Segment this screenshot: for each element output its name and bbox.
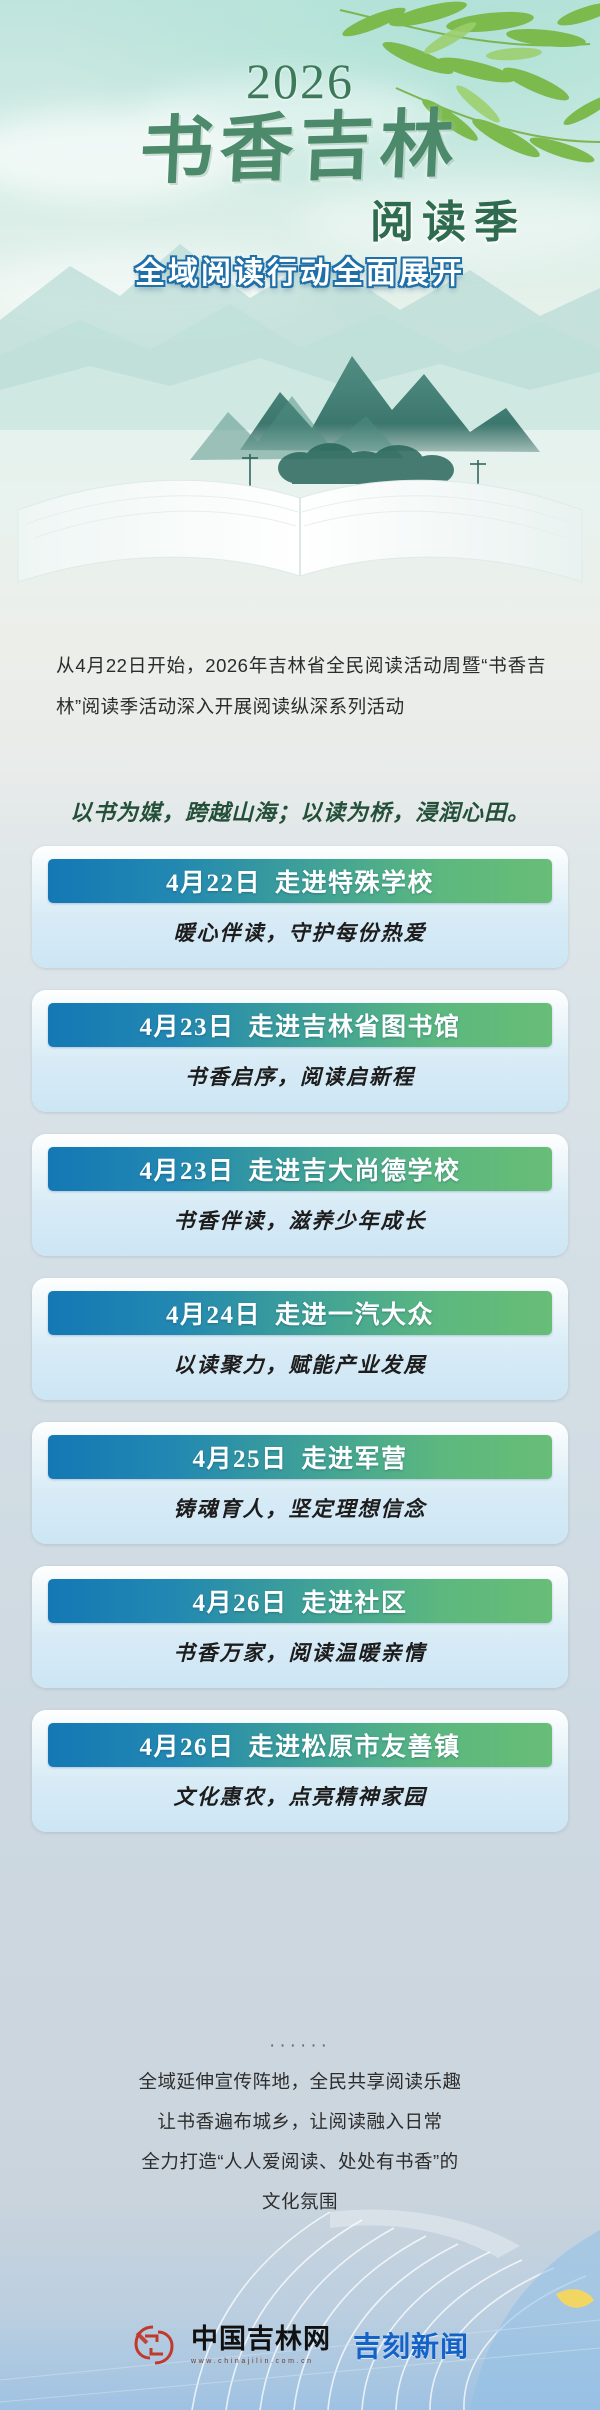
- poster-page: 2026 书香吉林 阅读季 全域阅读行动全面展开: [0, 0, 600, 2410]
- event-card-subtitle: 文化惠农，点亮精神家园: [48, 1781, 552, 1811]
- event-card-header: 4月23日走进吉林省图书馆: [48, 1003, 552, 1047]
- jike-news-wordmark: 吉刻新闻: [353, 2325, 469, 2365]
- event-card-subtitle: 暖心伴读，守护每份热爱: [48, 917, 552, 947]
- event-card-header: 4月24日走进一汽大众: [48, 1291, 552, 1335]
- event-card-title: 4月25日走进军营: [192, 1439, 407, 1475]
- event-card[interactable]: 4月24日走进一汽大众 以读聚力，赋能产业发展: [32, 1278, 568, 1400]
- open-book-illustration: [0, 300, 600, 600]
- event-card-header: 4月26日走进松原市友善镇: [48, 1723, 552, 1767]
- china-jilin-url: www.chinajilin.com.cn: [191, 2358, 314, 2365]
- event-card-title: 4月22日走进特殊学校: [166, 863, 434, 899]
- event-card-title: 4月23日走进吉大尚德学校: [139, 1151, 460, 1187]
- event-card[interactable]: 4月25日走进军营 铸魂育人，坚定理想信念: [32, 1422, 568, 1544]
- event-card-subtitle: 书香万家，阅读温暖亲情: [48, 1637, 552, 1667]
- event-card[interactable]: 4月22日走进特殊学校 暖心伴读，守护每份热爱: [32, 846, 568, 968]
- event-card-subtitle: 铸魂育人，坚定理想信念: [48, 1493, 552, 1523]
- event-card-subtitle: 书香启序，阅读启新程: [48, 1061, 552, 1091]
- event-card-header: 4月23日走进吉大尚德学校: [48, 1147, 552, 1191]
- intro-paragraph: 从4月22日开始，2026年吉林省全民阅读活动周暨“书香吉林”阅读季活动深入开展…: [56, 645, 546, 727]
- hero-brush-title: 书香吉林: [0, 81, 600, 203]
- china-jilin-logo-icon: [131, 2322, 177, 2368]
- event-card-title: 4月26日走进社区: [192, 1583, 407, 1619]
- china-jilin-wordmark: 中国吉林网 www.chinajilin.com.cn: [191, 2326, 331, 2365]
- event-card-subtitle: 以读聚力，赋能产业发展: [48, 1349, 552, 1379]
- event-card-title: 4月26日走进松原市友善镇: [139, 1727, 460, 1763]
- event-card-header: 4月26日走进社区: [48, 1579, 552, 1623]
- event-card-header: 4月22日走进特殊学校: [48, 859, 552, 903]
- ellipsis-divider: ······: [0, 2035, 600, 2057]
- hero-season-label: 阅读季: [370, 186, 526, 250]
- event-card-title: 4月23日走进吉林省图书馆: [139, 1007, 460, 1043]
- intro-quote: 以书为媒，跨越山海；以读为桥，浸润心田。: [0, 795, 600, 827]
- event-card-title: 4月24日走进一汽大众: [166, 1295, 434, 1331]
- event-card[interactable]: 4月23日走进吉林省图书馆 书香启序，阅读启新程: [32, 990, 568, 1112]
- event-card[interactable]: 4月23日走进吉大尚德学校 书香伴读，滋养少年成长: [32, 1134, 568, 1256]
- event-card-list: 4月22日走进特殊学校 暖心伴读，守护每份热爱 4月23日走进吉林省图书馆 书香…: [32, 846, 568, 1854]
- hero-slogan-text: 全域阅读行动全面展开: [135, 248, 465, 292]
- event-card[interactable]: 4月26日走进社区 书香万家，阅读温暖亲情: [32, 1566, 568, 1688]
- footer-logos: 中国吉林网 www.chinajilin.com.cn 吉刻新闻: [0, 2322, 600, 2368]
- event-card-subtitle: 书香伴读，滋养少年成长: [48, 1205, 552, 1235]
- event-card[interactable]: 4月26日走进松原市友善镇 文化惠农，点亮精神家园: [32, 1710, 568, 1832]
- hero-slogan-banner: 全域阅读行动全面展开: [0, 248, 600, 292]
- event-card-header: 4月25日走进军营: [48, 1435, 552, 1479]
- china-jilin-name: 中国吉林网: [191, 2326, 331, 2353]
